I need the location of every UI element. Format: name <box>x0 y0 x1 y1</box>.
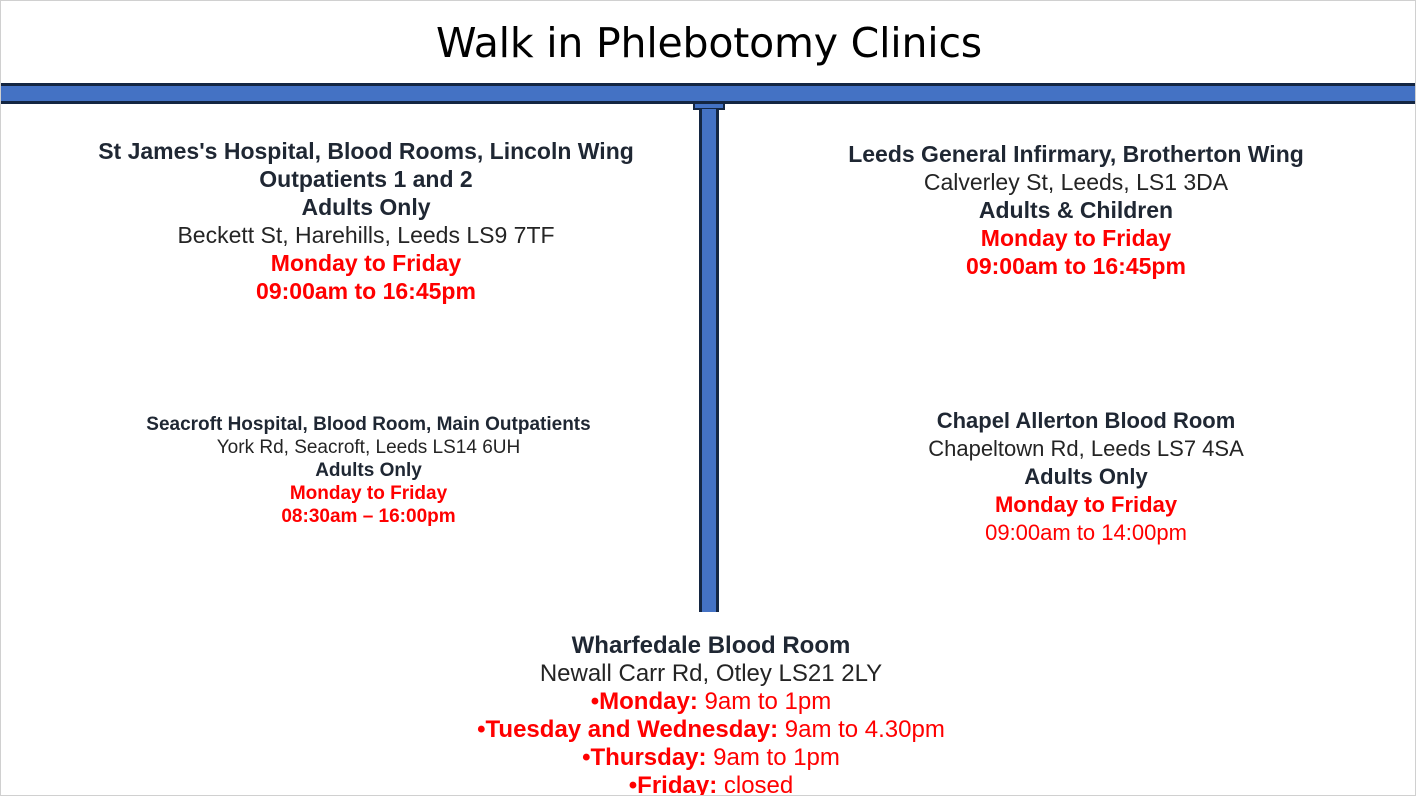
clinic-address: Chapeltown Rd, Leeds LS7 4SA <box>881 435 1291 463</box>
clinic-block-wharfedale: Wharfedale Blood Room Newall Carr Rd, Ot… <box>406 632 1016 796</box>
schedule-day: Friday: <box>637 772 717 796</box>
bullet-icon: • <box>477 716 485 743</box>
schedule-time <box>778 716 785 743</box>
clinic-address: Beckett St, Harehills, Leeds LS9 7TF <box>61 221 671 249</box>
clinic-hours: 09:00am to 14:00pm <box>881 519 1291 547</box>
clinic-days: Monday to Friday <box>61 249 671 277</box>
clinic-audience: Adults Only <box>111 459 626 482</box>
clinic-name: Seacroft Hospital, Blood Room, Main Outp… <box>111 413 626 436</box>
schedule-row: •Friday: closed <box>406 772 1016 796</box>
clinic-name: Wharfedale Blood Room <box>406 632 1016 660</box>
clinic-name: Leeds General Infirmary, Brotherton Wing <box>781 140 1371 168</box>
clinic-audience: Adults Only <box>881 463 1291 491</box>
clinic-address: Newall Carr Rd, Otley LS21 2LY <box>406 660 1016 688</box>
schedule-row: •Thursday: 9am to 1pm <box>406 744 1016 772</box>
bullet-icon: • <box>629 772 637 796</box>
schedule-time <box>717 772 724 796</box>
page-title: Walk in Phlebotomy Clinics <box>1 17 1416 69</box>
clinic-address: Calverley St, Leeds, LS1 3DA <box>781 168 1371 196</box>
clinic-hours: 08:30am – 16:00pm <box>111 505 626 528</box>
clinic-name: St James's Hospital, Blood Rooms, Lincol… <box>61 137 671 165</box>
clinic-days: Monday to Friday <box>111 482 626 505</box>
schedule-time-value: closed <box>724 772 793 796</box>
clinic-block-seacroft: Seacroft Hospital, Blood Room, Main Outp… <box>111 413 626 528</box>
clinic-audience: Adults Only <box>61 193 671 221</box>
schedule-time-value: 9am to 4.30pm <box>785 716 945 743</box>
clinic-block-stjames: St James's Hospital, Blood Rooms, Lincol… <box>61 137 671 305</box>
schedule-time-value: 9am to 1pm <box>713 744 840 771</box>
clinic-block-chapel-allerton: Chapel Allerton Blood Room Chapeltown Rd… <box>881 407 1291 547</box>
schedule-time-value: 9am to 1pm <box>705 688 832 715</box>
clinic-days: Monday to Friday <box>881 491 1291 519</box>
clinic-block-lgi: Leeds General Infirmary, Brotherton Wing… <box>781 140 1371 280</box>
schedule-row: •Tuesday and Wednesday: 9am to 4.30pm <box>406 716 1016 744</box>
schedule-day: Monday: <box>599 688 698 715</box>
clinic-hours: 09:00am to 16:45pm <box>61 277 671 305</box>
clinic-days: Monday to Friday <box>781 224 1371 252</box>
schedule-day: Thursday: <box>590 744 706 771</box>
schedule-day: Tuesday and Wednesday: <box>486 716 779 743</box>
clinic-hours: 09:00am to 16:45pm <box>781 252 1371 280</box>
schedule-row: •Monday: 9am to 1pm <box>406 688 1016 716</box>
schedule-time <box>698 688 705 715</box>
clinic-address: York Rd, Seacroft, Leeds LS14 6UH <box>111 436 626 459</box>
clinic-department: Outpatients 1 and 2 <box>61 165 671 193</box>
header-divider-bar <box>1 83 1416 104</box>
slide-canvas: Walk in Phlebotomy Clinics St James's Ho… <box>0 0 1416 796</box>
vertical-divider-bar <box>699 109 719 612</box>
clinic-name: Chapel Allerton Blood Room <box>881 407 1291 435</box>
clinic-audience: Adults & Children <box>781 196 1371 224</box>
bullet-icon: • <box>591 688 599 715</box>
